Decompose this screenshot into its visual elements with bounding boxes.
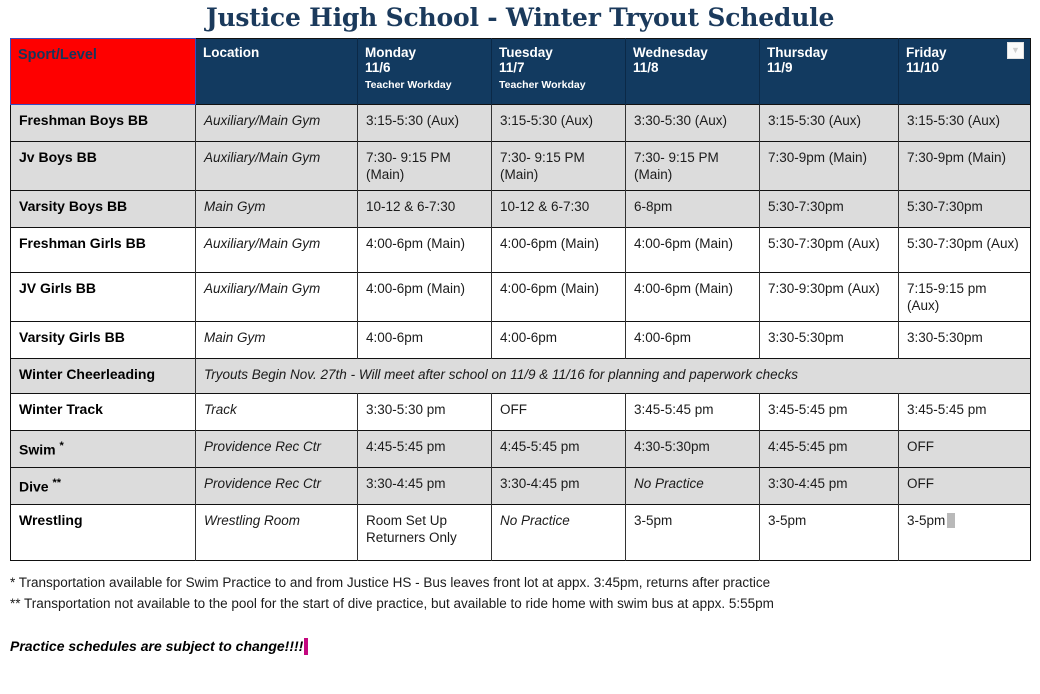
cell-friday[interactable]: OFF bbox=[899, 431, 1031, 468]
cell-sport[interactable]: Jv Boys BB bbox=[11, 142, 196, 191]
cell-location[interactable]: Auxiliary/Main Gym bbox=[196, 273, 358, 322]
cell-monday[interactable]: 4:00-6pm (Main) bbox=[358, 273, 492, 322]
cell-sport-label: Swim bbox=[19, 442, 56, 458]
cell-thursday[interactable]: 3:30-4:45 pm bbox=[760, 468, 899, 505]
column-header-thursday-label: Thursday bbox=[767, 45, 891, 60]
cell-friday[interactable]: 5:30-7:30pm bbox=[899, 191, 1031, 228]
footnotes: * Transportation available for Swim Prac… bbox=[10, 572, 1030, 614]
cell-friday[interactable]: 3:15-5:30 (Aux) bbox=[899, 105, 1031, 142]
footnote-dive-transportation: ** Transportation not available to the p… bbox=[10, 593, 1030, 614]
table-row: Winter Track Track 3:30-5:30 pm OFF 3:45… bbox=[11, 394, 1031, 431]
cell-location[interactable]: Providence Rec Ctr bbox=[196, 468, 358, 505]
cell-thursday[interactable]: 7:30-9pm (Main) bbox=[760, 142, 899, 191]
cell-wednesday[interactable]: 7:30- 9:15 PM (Main) bbox=[626, 142, 760, 191]
page-title: Justice High School - Winter Tryout Sche… bbox=[0, 0, 1040, 38]
column-header-monday-label: Monday bbox=[365, 45, 484, 60]
column-header-tuesday-note: Teacher Workday bbox=[499, 78, 618, 93]
cell-tuesday[interactable]: 4:00-6pm (Main) bbox=[492, 228, 626, 273]
cell-friday[interactable]: OFF bbox=[899, 468, 1031, 505]
cell-thursday[interactable]: 5:30-7:30pm bbox=[760, 191, 899, 228]
column-header-monday-note: Teacher Workday bbox=[365, 78, 484, 93]
cell-sport-label: Dive bbox=[19, 479, 49, 495]
table-row: Wrestling Wrestling Room Room Set Up Ret… bbox=[11, 505, 1031, 561]
cell-sport[interactable]: Swim * bbox=[11, 431, 196, 468]
cell-friday[interactable]: 7:15-9:15 pm (Aux) bbox=[899, 273, 1031, 322]
column-header-wednesday-date: 11/8 bbox=[633, 60, 752, 75]
cell-friday[interactable]: 5:30-7:30pm (Aux) bbox=[899, 228, 1031, 273]
table-row: Varsity Boys BB Main Gym 10-12 & 6-7:30 … bbox=[11, 191, 1031, 228]
column-header-sport-level[interactable]: Sport/Level bbox=[11, 39, 196, 105]
cell-thursday[interactable]: 3-5pm bbox=[760, 505, 899, 561]
schedule-table-container: Sport/Level Location Monday 11/6 Teacher… bbox=[10, 38, 1030, 561]
cell-tuesday[interactable]: 4:00-6pm (Main) bbox=[492, 273, 626, 322]
footnote-swim-transportation: * Transportation available for Swim Prac… bbox=[10, 572, 1030, 593]
cell-tuesday[interactable]: No Practice bbox=[492, 505, 626, 561]
table-row: Dive ** Providence Rec Ctr 3:30-4:45 pm … bbox=[11, 468, 1031, 505]
table-header: Sport/Level Location Monday 11/6 Teacher… bbox=[11, 39, 1031, 105]
table-row: Swim * Providence Rec Ctr 4:45-5:45 pm 4… bbox=[11, 431, 1031, 468]
cell-sport[interactable]: Freshman Boys BB bbox=[11, 105, 196, 142]
cell-tuesday[interactable]: 3:15-5:30 (Aux) bbox=[492, 105, 626, 142]
cell-location[interactable]: Main Gym bbox=[196, 322, 358, 359]
cell-sport[interactable]: Winter Track bbox=[11, 394, 196, 431]
cell-wednesday[interactable]: No Practice bbox=[626, 468, 760, 505]
cell-monday[interactable]: 3:15-5:30 (Aux) bbox=[358, 105, 492, 142]
table-row: Varsity Girls BB Main Gym 4:00-6pm 4:00-… bbox=[11, 322, 1031, 359]
cell-friday[interactable]: 3-5pm bbox=[899, 505, 1031, 561]
cell-thursday[interactable]: 5:30-7:30pm (Aux) bbox=[760, 228, 899, 273]
table-body: Freshman Boys BB Auxiliary/Main Gym 3:15… bbox=[11, 105, 1031, 561]
text-cursor-block bbox=[947, 513, 955, 528]
cell-location[interactable]: Track bbox=[196, 394, 358, 431]
cell-wednesday[interactable]: 3-5pm bbox=[626, 505, 760, 561]
closing-disclaimer-label: Practice schedules are subject to change… bbox=[10, 638, 303, 654]
table-row: Freshman Girls BB Auxiliary/Main Gym 4:0… bbox=[11, 228, 1031, 273]
cell-sport[interactable]: Dive ** bbox=[11, 468, 196, 505]
cell-friday[interactable]: 7:30-9pm (Main) bbox=[899, 142, 1031, 191]
cell-wednesday[interactable]: 4:30-5:30pm bbox=[626, 431, 760, 468]
cell-location[interactable]: Auxiliary/Main Gym bbox=[196, 105, 358, 142]
column-header-sport-level-label: Sport/Level bbox=[18, 48, 188, 63]
cell-wednesday[interactable]: 4:00-6pm (Main) bbox=[626, 228, 760, 273]
cell-friday[interactable]: 3:45-5:45 pm bbox=[899, 394, 1031, 431]
column-header-friday-label: Friday bbox=[906, 45, 1023, 60]
table-row: Freshman Boys BB Auxiliary/Main Gym 3:15… bbox=[11, 105, 1031, 142]
cell-friday[interactable]: 3:30-5:30pm bbox=[899, 322, 1031, 359]
chevron-down-icon[interactable]: ▼ bbox=[1007, 42, 1024, 59]
cell-sport[interactable]: Varsity Girls BB bbox=[11, 322, 196, 359]
cell-tuesday[interactable]: 3:30-4:45 pm bbox=[492, 468, 626, 505]
cell-sport[interactable]: JV Girls BB bbox=[11, 273, 196, 322]
cell-tuesday[interactable]: OFF bbox=[492, 394, 626, 431]
table-row: Winter Cheerleading Tryouts Begin Nov. 2… bbox=[11, 359, 1031, 394]
cell-thursday[interactable]: 7:30-9:30pm (Aux) bbox=[760, 273, 899, 322]
footnote-marker: * bbox=[59, 440, 63, 452]
cell-tuesday[interactable]: 7:30- 9:15 PM (Main) bbox=[492, 142, 626, 191]
column-header-tuesday-label: Tuesday bbox=[499, 45, 618, 60]
column-header-monday[interactable]: Monday 11/6 Teacher Workday bbox=[358, 39, 492, 105]
cell-tuesday[interactable]: 10-12 & 6-7:30 bbox=[492, 191, 626, 228]
column-header-location-label: Location bbox=[203, 45, 350, 60]
cell-monday[interactable]: Room Set Up Returners Only bbox=[358, 505, 492, 561]
cell-location[interactable]: Providence Rec Ctr bbox=[196, 431, 358, 468]
cell-wednesday[interactable]: 4:00-6pm bbox=[626, 322, 760, 359]
cell-monday[interactable]: 3:30-4:45 pm bbox=[358, 468, 492, 505]
column-header-tuesday[interactable]: Tuesday 11/7 Teacher Workday bbox=[492, 39, 626, 105]
table-row: JV Girls BB Auxiliary/Main Gym 4:00-6pm … bbox=[11, 273, 1031, 322]
cell-thursday[interactable]: 4:45-5:45 pm bbox=[760, 431, 899, 468]
table-row: Jv Boys BB Auxiliary/Main Gym 7:30- 9:15… bbox=[11, 142, 1031, 191]
cell-monday[interactable]: 4:00-6pm bbox=[358, 322, 492, 359]
column-header-location[interactable]: Location bbox=[196, 39, 358, 105]
cell-sport[interactable]: Winter Cheerleading bbox=[11, 359, 196, 394]
cell-wednesday[interactable]: 3:45-5:45 pm bbox=[626, 394, 760, 431]
cell-sport[interactable]: Wrestling bbox=[11, 505, 196, 561]
cell-wednesday[interactable]: 3:30-5:30 (Aux) bbox=[626, 105, 760, 142]
table-header-row: Sport/Level Location Monday 11/6 Teacher… bbox=[11, 39, 1031, 105]
cell-sport[interactable]: Varsity Boys BB bbox=[11, 191, 196, 228]
cell-location[interactable]: Wrestling Room bbox=[196, 505, 358, 561]
closing-disclaimer: Practice schedules are subject to change… bbox=[10, 638, 1030, 655]
cell-tuesday[interactable]: 4:45-5:45 pm bbox=[492, 431, 626, 468]
cell-friday-label: 3-5pm bbox=[907, 513, 945, 528]
column-header-monday-date: 11/6 bbox=[365, 60, 484, 75]
cell-wednesday[interactable]: 6-8pm bbox=[626, 191, 760, 228]
cell-cheerleading-note[interactable]: Tryouts Begin Nov. 27th - Will meet afte… bbox=[196, 359, 1031, 394]
cell-monday[interactable]: 3:30-5:30 pm bbox=[358, 394, 492, 431]
cell-wednesday[interactable]: 4:00-6pm (Main) bbox=[626, 273, 760, 322]
column-header-thursday-date: 11/9 bbox=[767, 60, 891, 75]
text-caret bbox=[304, 638, 308, 655]
column-header-thursday[interactable]: Thursday 11/9 bbox=[760, 39, 899, 105]
cell-thursday[interactable]: 3:30-5:30pm bbox=[760, 322, 899, 359]
column-header-wednesday-label: Wednesday bbox=[633, 45, 752, 60]
cell-thursday[interactable]: 3:15-5:30 (Aux) bbox=[760, 105, 899, 142]
column-header-friday-date: 11/10 bbox=[906, 60, 1023, 75]
cell-sport[interactable]: Freshman Girls BB bbox=[11, 228, 196, 273]
cell-location[interactable]: Main Gym bbox=[196, 191, 358, 228]
column-header-wednesday[interactable]: Wednesday 11/8 bbox=[626, 39, 760, 105]
cell-monday[interactable]: 7:30- 9:15 PM (Main) bbox=[358, 142, 492, 191]
cell-location[interactable]: Auxiliary/Main Gym bbox=[196, 142, 358, 191]
column-header-tuesday-date: 11/7 bbox=[499, 60, 618, 75]
cell-monday[interactable]: 4:00-6pm (Main) bbox=[358, 228, 492, 273]
cell-location[interactable]: Auxiliary/Main Gym bbox=[196, 228, 358, 273]
cell-tuesday[interactable]: 4:00-6pm bbox=[492, 322, 626, 359]
cell-monday[interactable]: 4:45-5:45 pm bbox=[358, 431, 492, 468]
cell-monday[interactable]: 10-12 & 6-7:30 bbox=[358, 191, 492, 228]
tryout-schedule-table: Sport/Level Location Monday 11/6 Teacher… bbox=[10, 38, 1031, 561]
footnote-marker: ** bbox=[52, 477, 61, 489]
cell-thursday[interactable]: 3:45-5:45 pm bbox=[760, 394, 899, 431]
